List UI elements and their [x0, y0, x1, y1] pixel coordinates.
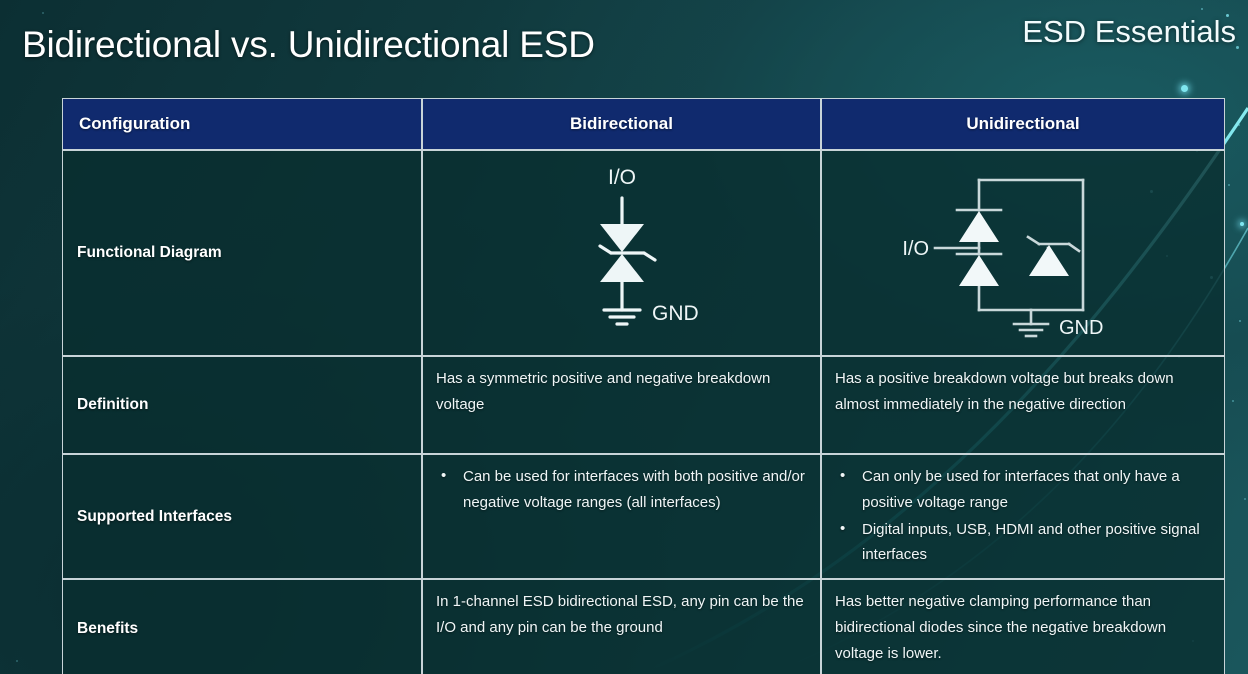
- table-row: Supported Interfaces Can be used for int…: [62, 454, 1225, 579]
- column-header-unidirectional: Unidirectional: [821, 98, 1225, 150]
- table-row: Benefits In 1-channel ESD bidirectional …: [62, 579, 1225, 674]
- comparison-table: Configuration Bidirectional Unidirection…: [62, 98, 1225, 674]
- bidirectional-tvs-diode-icon: I/O GND: [512, 158, 732, 348]
- cell-benefits-unidirectional: Has better negative clamping performance…: [821, 579, 1225, 674]
- table-body: Functional Diagram: [62, 150, 1225, 674]
- bullet-list: Can only be used for interfaces that onl…: [835, 464, 1210, 568]
- gnd-label: GND: [1059, 317, 1103, 339]
- lower-diode-triangle: [600, 254, 644, 282]
- cell-supported-interfaces-unidirectional: Can only be used for interfaces that onl…: [821, 454, 1225, 579]
- page-title: Bidirectional vs. Unidirectional ESD: [22, 24, 595, 66]
- gnd-label: GND: [652, 302, 699, 325]
- row-label-functional-diagram: Functional Diagram: [62, 150, 422, 356]
- cell-definition-bidirectional: Has a symmetric positive and negative br…: [422, 356, 821, 454]
- cell-benefits-bidirectional: In 1-channel ESD bidirectional ESD, any …: [422, 579, 821, 674]
- zener-diode-triangle: [1029, 245, 1069, 276]
- cell-bidirectional-diagram: I/O GND: [422, 150, 821, 356]
- upper-diode-triangle: [600, 224, 644, 252]
- row-label-definition: Definition: [62, 356, 422, 454]
- row-label-benefits: Benefits: [62, 579, 422, 674]
- slide-header: Bidirectional vs. Unidirectional ESD ESD…: [0, 0, 1248, 88]
- column-header-bidirectional: Bidirectional: [422, 98, 821, 150]
- io-label: I/O: [902, 238, 929, 260]
- list-item: Digital inputs, USB, HDMI and other posi…: [835, 517, 1210, 569]
- column-header-configuration: Configuration: [62, 98, 422, 150]
- series-brand-label: ESD Essentials: [1022, 14, 1236, 50]
- table-header-row: Configuration Bidirectional Unidirection…: [62, 98, 1225, 150]
- table-row: Functional Diagram: [62, 150, 1225, 356]
- unidirectional-steering-diode-rail-icon: I/O GND: [883, 158, 1163, 348]
- row-label-supported-interfaces: Supported Interfaces: [62, 454, 422, 579]
- table-header: Configuration Bidirectional Unidirection…: [62, 98, 1225, 150]
- cell-unidirectional-diagram: I/O GND: [821, 150, 1225, 356]
- upper-steering-diode-triangle: [959, 211, 999, 242]
- table-row: Definition Has a symmetric positive and …: [62, 356, 1225, 454]
- bullet-list: Can be used for interfaces with both pos…: [436, 464, 806, 516]
- cell-definition-unidirectional: Has a positive breakdown voltage but bre…: [821, 356, 1225, 454]
- list-item: Can only be used for interfaces that onl…: [835, 464, 1210, 516]
- lower-steering-diode-triangle: [959, 255, 999, 286]
- io-label: I/O: [607, 166, 635, 189]
- list-item: Can be used for interfaces with both pos…: [436, 464, 806, 516]
- cell-supported-interfaces-bidirectional: Can be used for interfaces with both pos…: [422, 454, 821, 579]
